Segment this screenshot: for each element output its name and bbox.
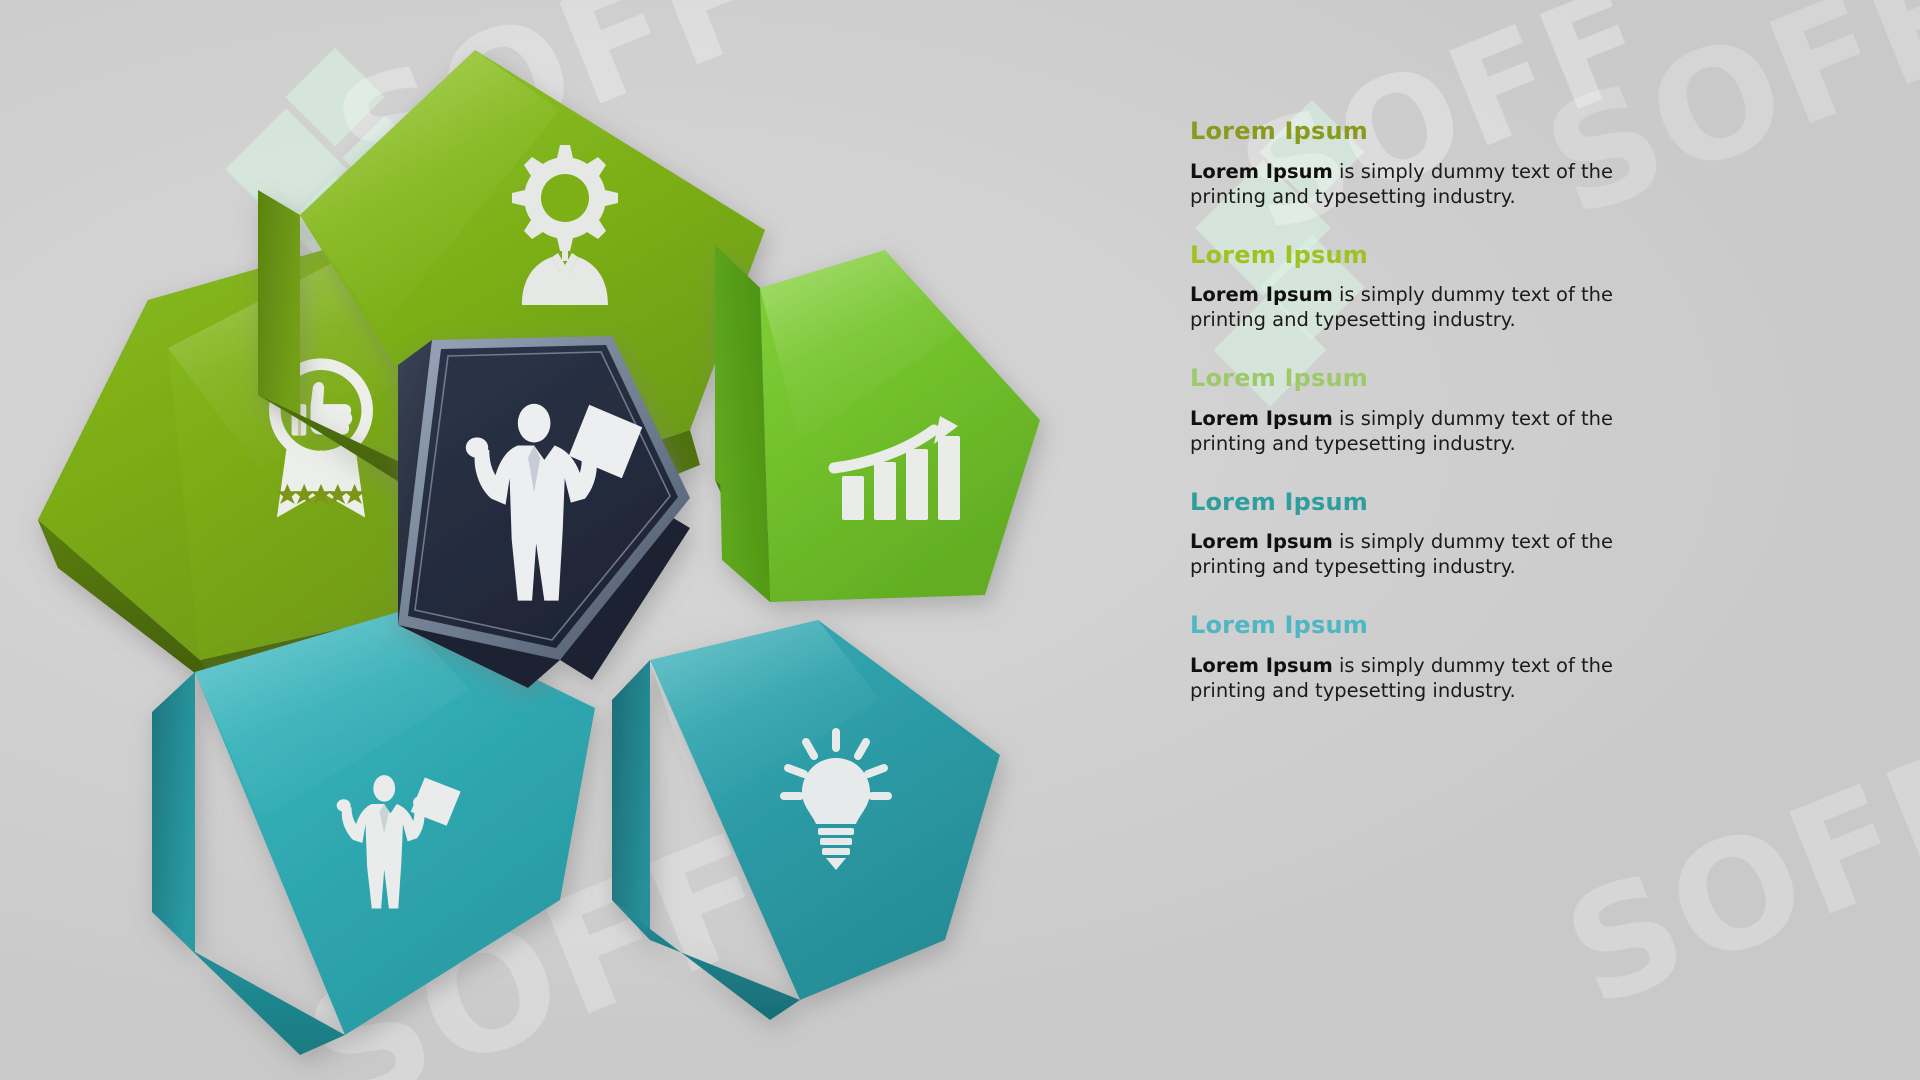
petal-bottom-right-side-left: [612, 660, 650, 940]
petal-right[interactable]: [715, 245, 1040, 602]
item-heading: Lorem Ipsum: [1190, 489, 1660, 517]
text-item-2: Lorem Ipsum Lorem Ipsum is simply dummy …: [1190, 242, 1660, 334]
slide-canvas: SOFF SOFF SOFF SOFF SOFF: [0, 0, 1920, 1080]
item-body: Lorem Ipsum is simply dummy text of the …: [1190, 283, 1640, 333]
item-body: Lorem Ipsum is simply dummy text of the …: [1190, 407, 1640, 457]
item-body-bold: Lorem Ipsum: [1190, 530, 1333, 553]
item-heading: Lorem Ipsum: [1190, 612, 1660, 640]
item-body-bold: Lorem Ipsum: [1190, 283, 1333, 306]
text-item-3: Lorem Ipsum Lorem Ipsum is simply dummy …: [1190, 365, 1660, 457]
item-heading: Lorem Ipsum: [1190, 118, 1660, 146]
pentagon-infographic-graphic: [0, 0, 1100, 1080]
item-body: Lorem Ipsum is simply dummy text of the …: [1190, 530, 1640, 580]
item-body: Lorem Ipsum is simply dummy text of the …: [1190, 160, 1640, 210]
petal-bottom-left-side-left: [152, 672, 195, 952]
watermark-text: SOFF: [1544, 712, 1920, 1041]
item-heading: Lorem Ipsum: [1190, 365, 1660, 393]
petal-top-side-left: [258, 190, 300, 420]
text-item-4: Lorem Ipsum Lorem Ipsum is simply dummy …: [1190, 489, 1660, 581]
petal-bottom-right[interactable]: [612, 620, 1000, 1020]
text-item-1: Lorem Ipsum Lorem Ipsum is simply dummy …: [1190, 118, 1660, 210]
item-body-bold: Lorem Ipsum: [1190, 407, 1333, 430]
item-body-bold: Lorem Ipsum: [1190, 160, 1333, 183]
text-item-5: Lorem Ipsum Lorem Ipsum is simply dummy …: [1190, 612, 1660, 704]
text-items-column: Lorem Ipsum Lorem Ipsum is simply dummy …: [1190, 118, 1660, 736]
gear-businessman-icon: [512, 145, 618, 305]
item-body-bold: Lorem Ipsum: [1190, 654, 1333, 677]
item-body: Lorem Ipsum is simply dummy text of the …: [1190, 654, 1640, 704]
item-heading: Lorem Ipsum: [1190, 242, 1660, 270]
